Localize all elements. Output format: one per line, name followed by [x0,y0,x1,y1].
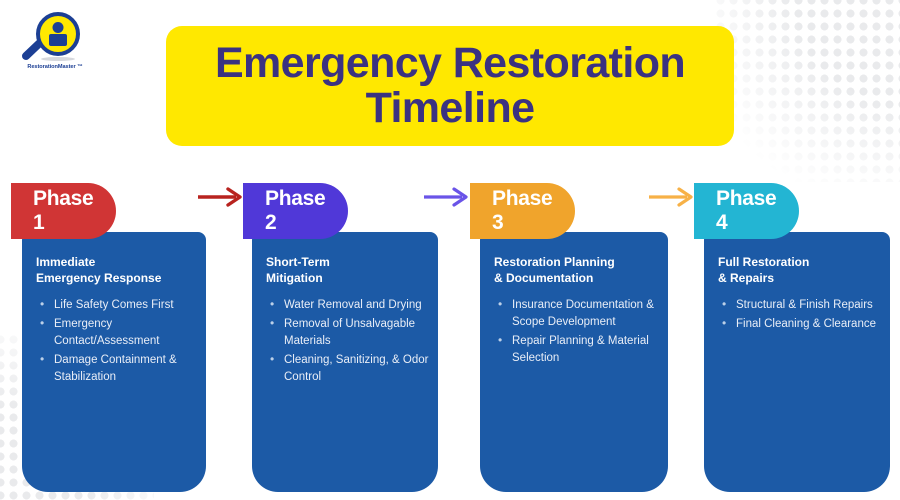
title-banner: Emergency Restoration Timeline [166,26,734,146]
list-item: Life Safety Comes First [36,297,208,314]
phase-1-bullet-list: Life Safety Comes First Emergency Contac… [36,297,208,386]
phase-3-title: Restoration Planning & Documentation [494,255,672,287]
page-title-line-1: Emergency Restoration [215,39,685,87]
phase-2-badge[interactable]: Phase 2 [243,183,348,239]
phase-3-bullet-list: Insurance Documentation & Scope Developm… [494,297,672,367]
list-item: Structural & Finish Repairs [718,297,894,314]
magnifier-person-icon [20,12,82,66]
phase-2-title-line-2: Mitigation [266,271,323,285]
phase-2-title: Short-Term Mitigation [266,255,441,287]
phase-3-badge-label: Phase 3 [492,187,552,235]
arrow-phase2-to-phase3 [424,186,472,208]
phase-2-title-line-1: Short-Term [266,255,330,269]
phase-1-title-line-2: Emergency Response [36,271,161,285]
phase-4-badge-label: Phase 4 [716,187,776,235]
arrow-phase1-to-phase2 [198,186,246,208]
phase-4-bullet-list: Structural & Finish Repairs Final Cleani… [718,297,894,333]
phase-1-title-line-1: Immediate [36,255,95,269]
phase-1-content: Immediate Emergency Response Life Safety… [36,255,208,388]
phase-2-bullet-list: Water Removal and Drying Removal of Unsa… [266,297,441,386]
list-item: Final Cleaning & Clearance [718,316,894,333]
list-item: Emergency Contact/Assessment [36,316,208,350]
page-title: Emergency Restoration Timeline [201,41,699,131]
list-item: Removal of Unsalvagable Materials [266,316,441,350]
phase-3-badge[interactable]: Phase 3 [470,183,575,239]
infographic-canvas: RestorationMaster ™ Emergency Restoratio… [0,0,900,500]
phase-3-content: Restoration Planning & Documentation Ins… [494,255,672,369]
list-item: Damage Containment & Stabilization [36,352,208,386]
list-item: Cleaning, Sanitizing, & Odor Control [266,352,441,386]
page-title-line-2: Timeline [366,84,535,132]
phase-4-title-line-1: Full Restoration [718,255,809,269]
phase-2-content: Short-Term Mitigation Water Removal and … [266,255,441,388]
list-item: Water Removal and Drying [266,297,441,314]
phase-3-title-line-2: & Documentation [494,271,593,285]
restorationmaster-logo: RestorationMaster ™ [12,12,98,74]
phase-4-title-line-2: & Repairs [718,271,774,285]
phase-4-badge[interactable]: Phase 4 [694,183,799,239]
halftone-dots-top-right [714,0,900,182]
arrow-phase3-to-phase4 [649,186,697,208]
list-item: Insurance Documentation & Scope Developm… [494,297,672,331]
logo-brand-text: RestorationMaster ™ [12,64,98,70]
phase-1-title: Immediate Emergency Response [36,255,208,287]
phase-2-badge-label: Phase 2 [265,187,325,235]
phase-1-badge[interactable]: Phase 1 [11,183,116,239]
list-item: Repair Planning & Material Selection [494,333,672,367]
phase-4-title: Full Restoration & Repairs [718,255,894,287]
phase-3-title-line-1: Restoration Planning [494,255,615,269]
phase-4-content: Full Restoration & Repairs Structural & … [718,255,894,335]
phase-1-badge-label: Phase 1 [33,187,93,235]
